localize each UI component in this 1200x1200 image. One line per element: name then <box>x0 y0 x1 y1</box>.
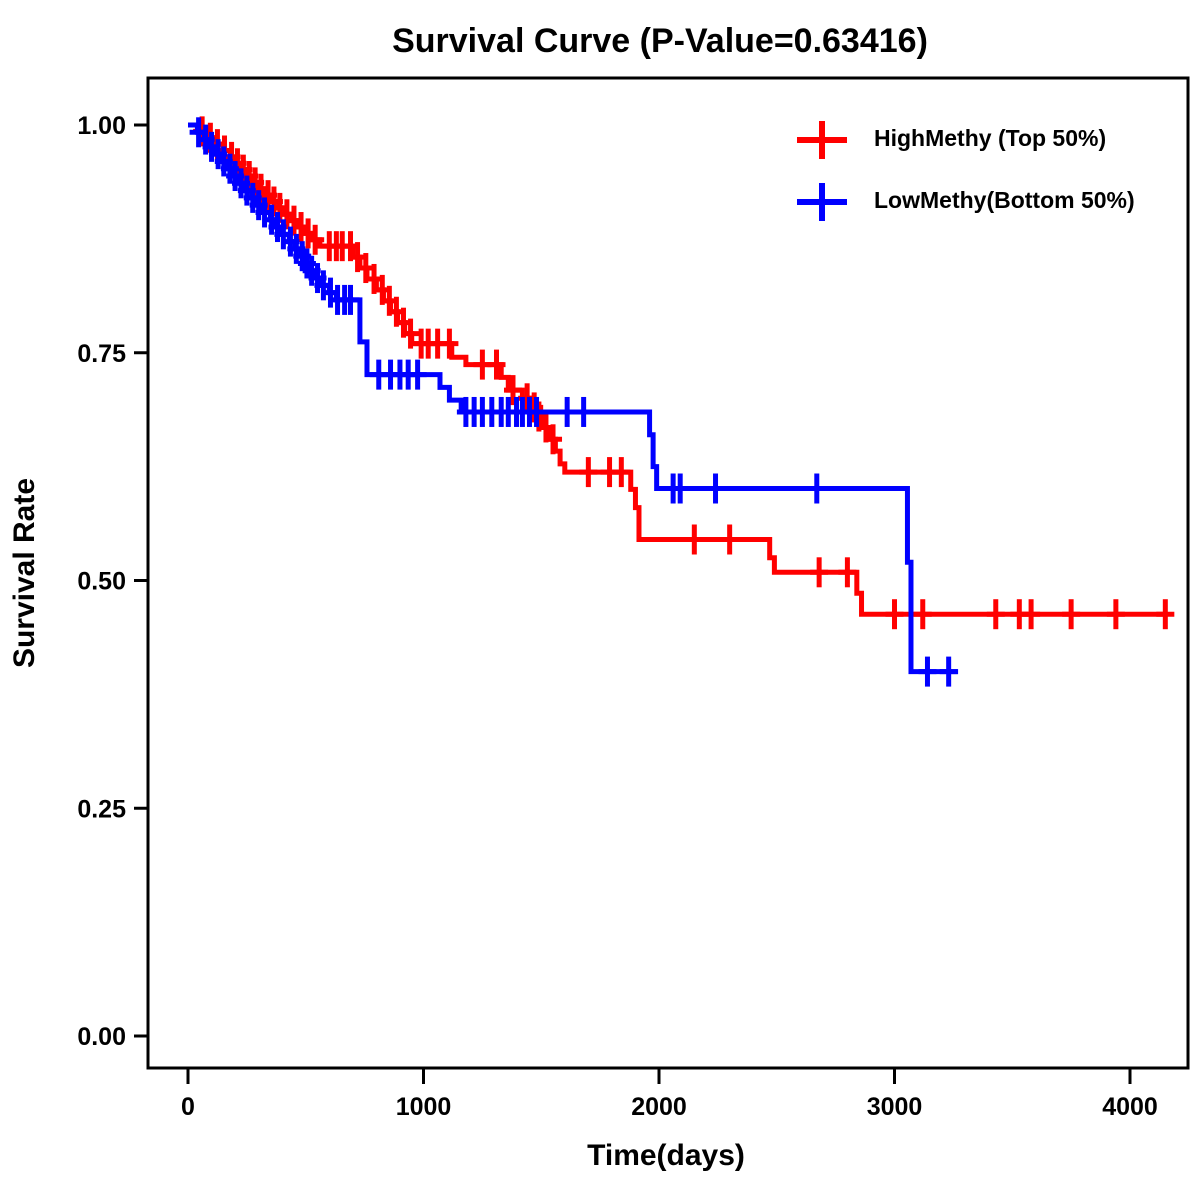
legend-label: LowMethy(Bottom 50%) <box>874 187 1135 213</box>
y-tick-label: 0.75 <box>77 340 126 368</box>
survival-curve-figure: Survival Curve (P-Value=0.63416) 0.000.2… <box>0 0 1200 1200</box>
y-tick-label: 1.00 <box>77 112 126 140</box>
page-title: Survival Curve (P-Value=0.63416) <box>392 22 928 60</box>
x-axis-title: Time(days) <box>587 1139 745 1172</box>
y-axis-title: Survival Rate <box>8 478 41 668</box>
legend-label: HighMethy (Top 50%) <box>874 125 1106 151</box>
x-tick-label: 0 <box>181 1093 195 1121</box>
x-tick-label: 1000 <box>396 1093 452 1121</box>
chart-canvas: Survival Curve (P-Value=0.63416) 0.000.2… <box>0 0 1200 1200</box>
x-tick-label: 4000 <box>1102 1093 1158 1121</box>
y-tick-label: 0.50 <box>77 568 126 596</box>
y-tick-label: 0.00 <box>77 1023 126 1051</box>
x-tick-label: 3000 <box>867 1093 923 1121</box>
x-tick-label: 2000 <box>631 1093 687 1121</box>
y-tick-label: 0.25 <box>77 795 126 823</box>
